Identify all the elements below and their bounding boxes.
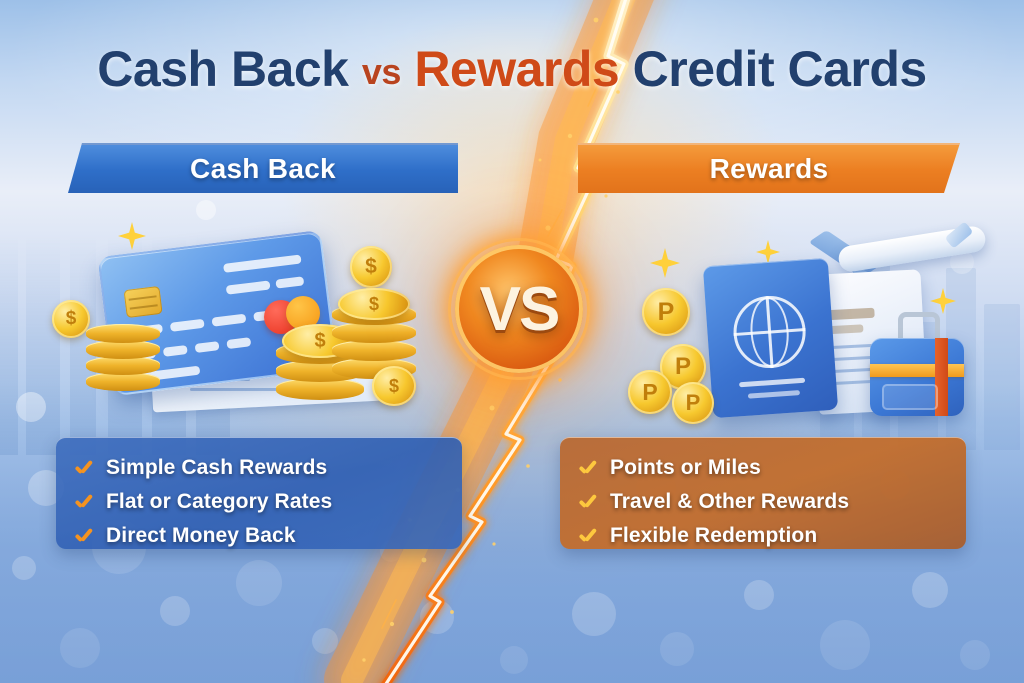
list-item: Flexible Redemption <box>578 519 966 553</box>
list-item-label: Flat or Category Rates <box>106 490 332 514</box>
coin-symbol: $ <box>314 330 325 353</box>
list-item-label: Points or Miles <box>610 456 761 480</box>
coin-symbol: P <box>686 390 701 416</box>
banner-rewards[interactable]: Rewards <box>578 143 960 193</box>
check-icon <box>578 493 597 512</box>
point-coin: P <box>642 288 690 336</box>
banner-rewards-label: Rewards <box>710 153 829 185</box>
page-title: Cash Back vs Rewards Credit Cards <box>0 40 1024 98</box>
rewards-feature-list: Points or Miles Travel & Other Rewards F… <box>578 451 966 553</box>
list-item: Flat or Category Rates <box>74 485 462 519</box>
passport <box>703 258 838 418</box>
coin-symbol: $ <box>66 308 77 330</box>
banner-cash-back-label: Cash Back <box>190 153 336 185</box>
title-part-cash-back: Cash Back <box>97 41 362 97</box>
list-item: Simple Cash Rewards <box>74 451 462 485</box>
rewards-feature-panel: Points or Miles Travel & Other Rewards F… <box>560 437 966 549</box>
coin-symbol: P <box>642 379 657 406</box>
cash-back-feature-list: Simple Cash Rewards Flat or Category Rat… <box>74 451 462 553</box>
list-item-label: Simple Cash Rewards <box>106 456 327 480</box>
check-icon <box>74 459 93 478</box>
dollar-coin: $ <box>372 366 416 406</box>
coin-symbol: P <box>675 353 691 381</box>
check-icon <box>578 527 597 546</box>
list-item-label: Direct Money Back <box>106 524 296 548</box>
list-item-label: Travel & Other Rewards <box>610 490 849 514</box>
coin-symbol: $ <box>365 255 377 279</box>
suitcase-handle <box>898 312 940 340</box>
dollar-coin: $ <box>52 300 90 338</box>
list-item: Travel & Other Rewards <box>578 485 966 519</box>
infographic-canvas: $ $ $ $ $ <box>0 0 1024 683</box>
point-coin: P <box>672 382 714 424</box>
check-icon <box>74 493 93 512</box>
globe-icon <box>731 294 808 371</box>
coin-symbol: $ <box>369 294 379 315</box>
coin-symbol: P <box>658 298 675 327</box>
vs-label: VS <box>455 245 583 373</box>
sparkle-star <box>650 248 680 278</box>
title-vs: vs <box>362 51 401 92</box>
check-icon <box>74 527 93 546</box>
list-item: Points or Miles <box>578 451 966 485</box>
title-part-credit-cards: Credit Cards <box>633 41 927 97</box>
cash-back-feature-panel: Simple Cash Rewards Flat or Category Rat… <box>56 437 462 549</box>
point-coin: P <box>628 370 672 414</box>
dollar-coin: $ <box>350 246 392 288</box>
coin-symbol: $ <box>389 376 399 397</box>
list-item-label: Flexible Redemption <box>610 524 817 548</box>
list-item: Direct Money Back <box>74 519 462 553</box>
check-icon <box>578 459 597 478</box>
banner-cash-back[interactable]: Cash Back <box>68 143 458 193</box>
card-chip <box>124 286 163 318</box>
title-part-rewards: Rewards <box>401 41 633 97</box>
